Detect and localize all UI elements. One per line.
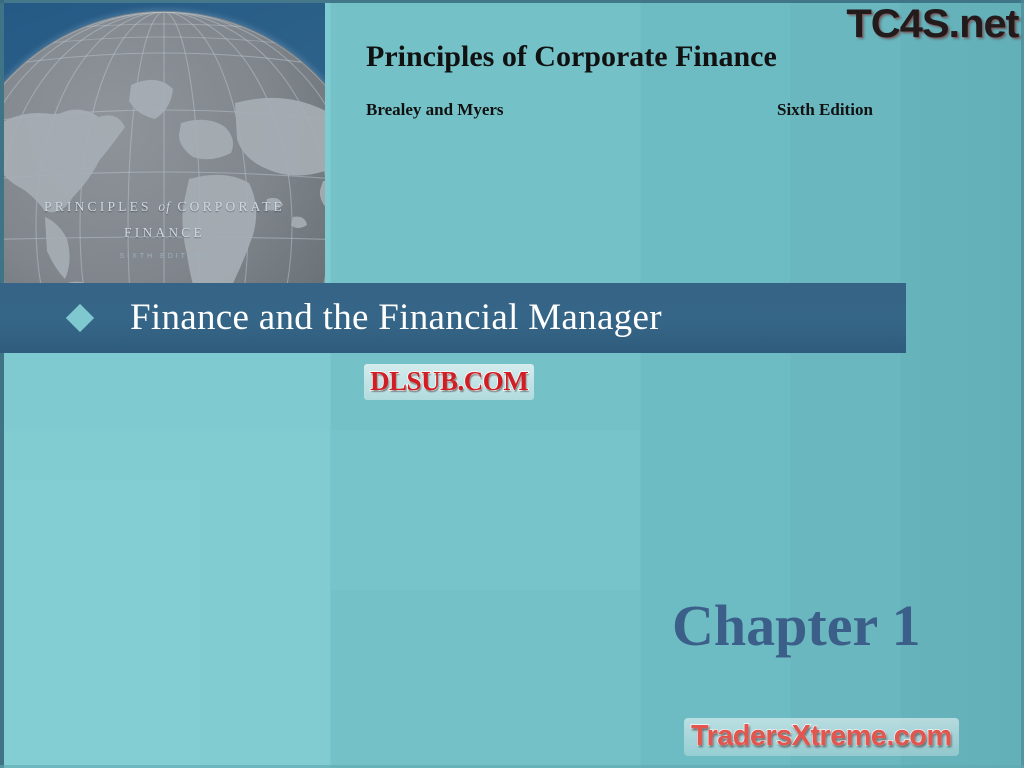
presentation-slide: PRINCIPLES of CORPORATE FINANCE SIXTH ED…: [0, 0, 1024, 768]
background-band-upper-left: [0, 352, 330, 432]
book-authors: Brealey and Myers: [366, 100, 504, 120]
cover-title-part-of: of: [158, 199, 171, 214]
cover-title-part-a: PRINCIPLES: [44, 199, 158, 214]
book-edition: Sixth Edition: [777, 100, 873, 120]
cover-title-line1: PRINCIPLES of CORPORATE: [4, 199, 325, 215]
cover-title-line2: FINANCE: [4, 225, 325, 241]
globe-landmasses: [4, 11, 325, 283]
book-cover-image: PRINCIPLES of CORPORATE FINANCE SIXTH ED…: [4, 3, 325, 283]
book-title: Principles of Corporate Finance: [366, 40, 777, 74]
slide-title-banner: Finance and the Financial Manager: [0, 283, 906, 353]
watermark-dlsub: DLSUB.COM: [364, 364, 534, 400]
chapter-label: Chapter 1: [672, 592, 921, 659]
background-band-left-inner: [0, 480, 200, 768]
cover-edition-label: SIXTH EDITION: [4, 253, 325, 260]
diamond-bullet-icon: [66, 304, 94, 332]
cover-title-part-c: CORPORATE: [171, 199, 285, 214]
slide-title: Finance and the Financial Manager: [130, 296, 662, 339]
background-band-mid: [330, 430, 640, 590]
watermark-tc4s: TC4S.net: [846, 2, 1018, 47]
watermark-tradersxtreme: TradersXtreme.com: [684, 718, 959, 756]
globe-graphic: [4, 11, 325, 283]
